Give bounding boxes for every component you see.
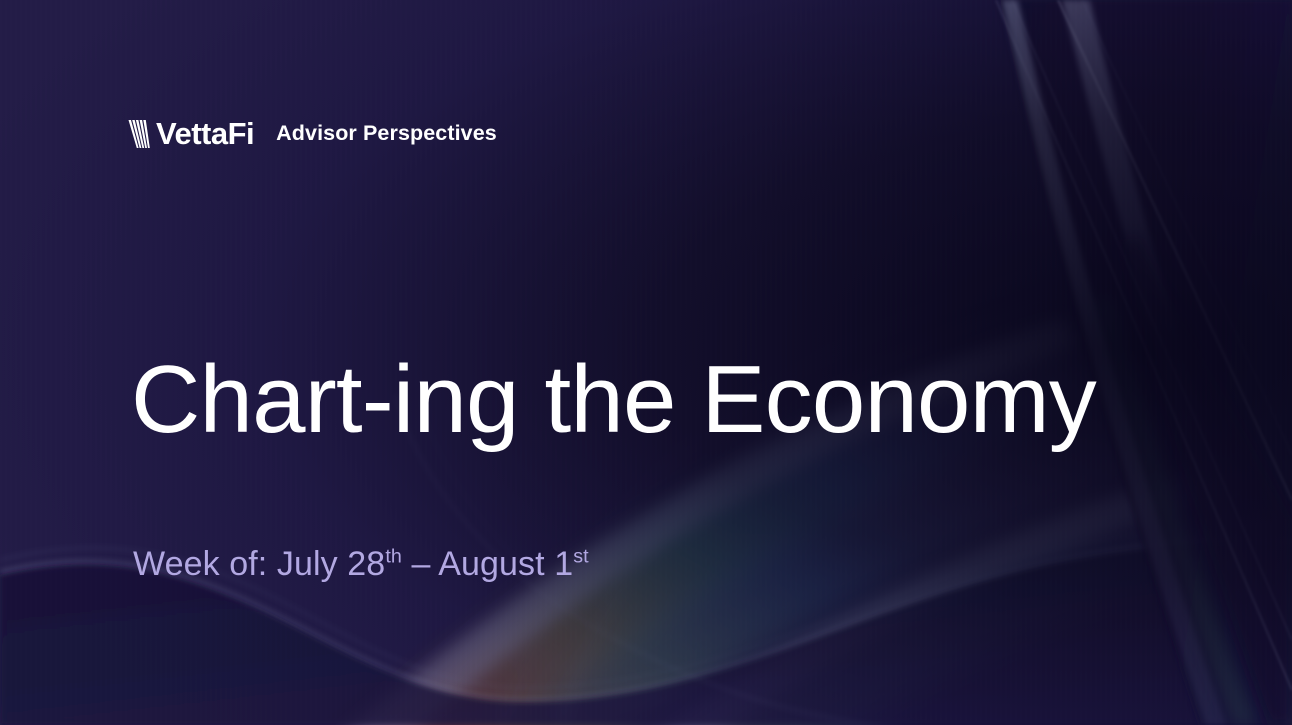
subtitle-separator: – August 1 [402, 545, 573, 583]
subtitle-ordinal-start: th [385, 546, 402, 568]
date-range-subtitle: Week of: July 28th – August 1st [133, 546, 589, 583]
page-title: Chart-ing the Economy [131, 350, 1096, 451]
brand-bar: VettaFi Advisor Perspectives [128, 118, 497, 149]
vettafi-wordmark: VettaFi [156, 118, 254, 149]
title-slide: VettaFi Advisor Perspectives Chart-ing t… [0, 0, 1292, 725]
brand-tagline: Advisor Perspectives [276, 123, 497, 145]
subtitle-prefix: Week of: July 28 [133, 545, 385, 583]
vettafi-striped-v-icon [128, 119, 154, 149]
subtitle-ordinal-end: st [573, 546, 589, 568]
